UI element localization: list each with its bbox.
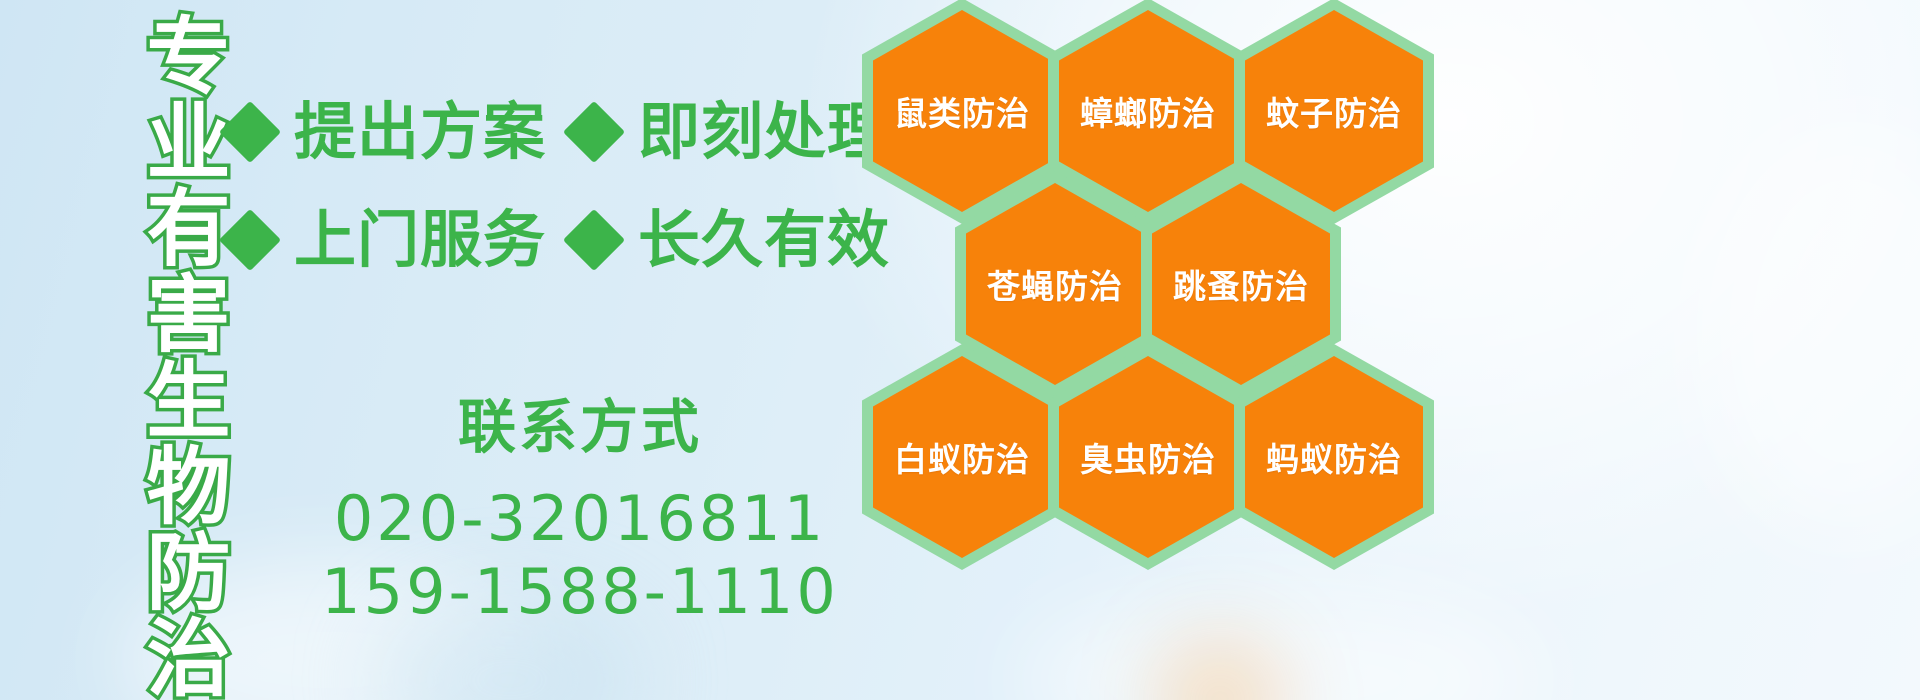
feature-label: 提出方案	[294, 101, 546, 163]
diamond-bullet-icon	[563, 209, 625, 271]
feature-row: 上门服务 长久有效	[228, 186, 878, 294]
service-label: 苍蝇防治	[987, 260, 1123, 308]
feature-list: 提出方案 即刻处理 上门服务 长久有效	[228, 78, 878, 294]
background-haze	[1700, 120, 1920, 540]
diamond-bullet-icon	[219, 101, 281, 163]
service-hex-termite[interactable]: 白蚁防治	[862, 344, 1062, 570]
vertical-headline: 专业有害生物防治服务	[112, 12, 224, 700]
feature-item: 长久有效	[572, 209, 890, 271]
service-hex-bedbug[interactable]: 臭虫防治	[1048, 344, 1248, 570]
contact-block: 联系方式 020-32016811 159-1588-1110	[300, 398, 860, 628]
feature-label: 即刻处理	[638, 101, 890, 163]
pest-control-banner: 专业有害生物防治服务 提出方案 即刻处理 上门服务 长久有效 联	[0, 0, 1920, 700]
service-label: 蚂蚁防治	[1266, 433, 1402, 481]
feature-item: 提出方案	[228, 101, 546, 163]
feature-row: 提出方案 即刻处理	[228, 78, 878, 186]
service-label: 白蚁防治	[894, 433, 1030, 481]
service-label: 蚊子防治	[1266, 87, 1402, 135]
phone-number-mobile[interactable]: 159-1588-1110	[300, 555, 860, 628]
contact-label: 联系方式	[300, 398, 860, 456]
service-hex-ant[interactable]: 蚂蚁防治	[1234, 344, 1434, 570]
feature-item: 即刻处理	[572, 101, 890, 163]
service-honeycomb: 鼠类防治 蟑螂防治 蚊子防治 苍蝇防治 跳蚤防治 白蚁防治	[862, 0, 1462, 694]
feature-label: 长久有效	[638, 209, 890, 271]
service-label: 蟑螂防治	[1080, 87, 1216, 135]
feature-item: 上门服务	[228, 209, 546, 271]
service-label: 臭虫防治	[1080, 433, 1216, 481]
feature-label: 上门服务	[294, 209, 546, 271]
service-label: 鼠类防治	[894, 87, 1030, 135]
service-label: 跳蚤防治	[1173, 260, 1309, 308]
phone-number-landline[interactable]: 020-32016811	[300, 482, 860, 555]
diamond-bullet-icon	[219, 209, 281, 271]
diamond-bullet-icon	[563, 101, 625, 163]
